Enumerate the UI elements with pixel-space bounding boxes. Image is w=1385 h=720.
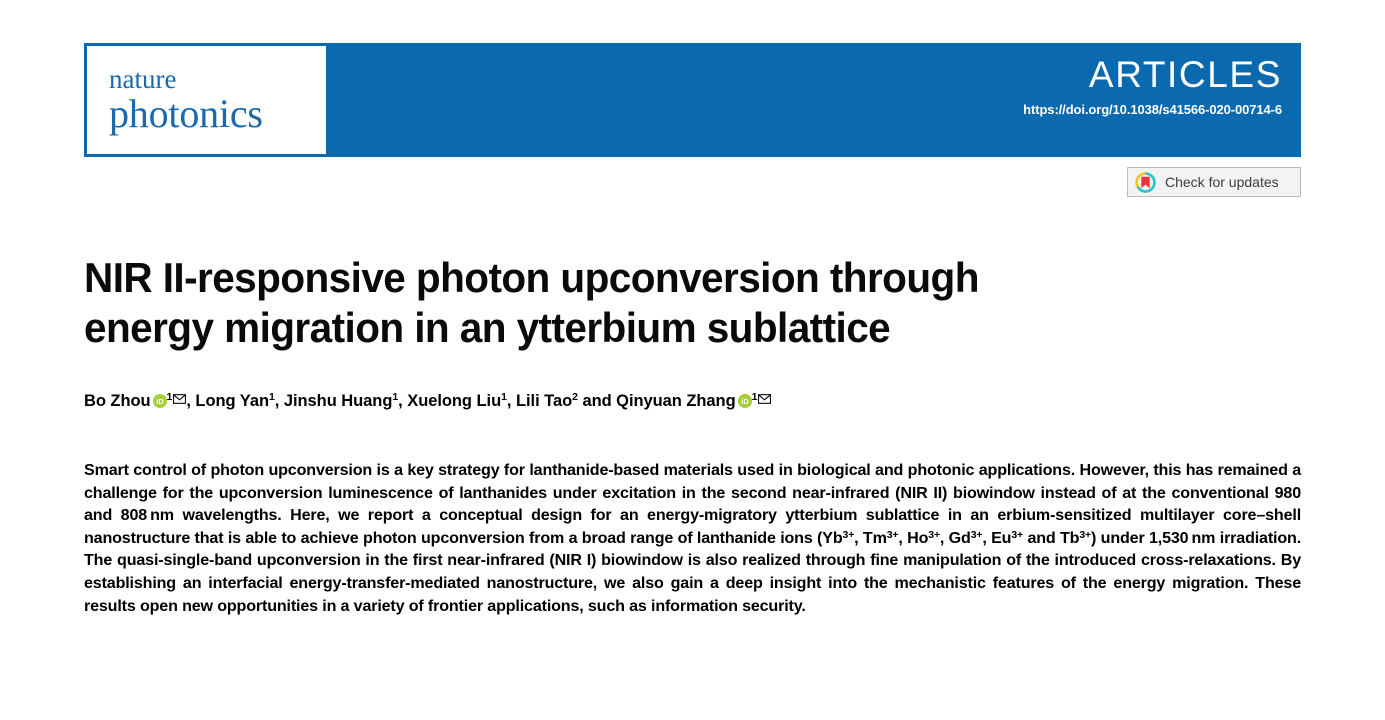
journal-logo-nature: nature xyxy=(109,66,176,93)
crossmark-icon xyxy=(1135,172,1156,193)
svg-text:iD: iD xyxy=(741,397,749,406)
journal-logo[interactable]: nature photonics xyxy=(84,43,329,157)
orcid-icon[interactable]: iD xyxy=(738,392,752,406)
check-for-updates-label: Check for updates xyxy=(1165,174,1279,190)
abstract-superscript: 3+ xyxy=(843,529,855,541)
section-label: ARTICLES xyxy=(1023,56,1282,95)
author-separator: , xyxy=(275,392,284,410)
author-name[interactable]: Lili Tao xyxy=(516,392,572,410)
abstract-superscript: 3+ xyxy=(1079,529,1091,541)
author-affiliation-marker[interactable]: 1 xyxy=(752,391,758,403)
check-for-updates-badge[interactable]: Check for updates xyxy=(1127,167,1301,197)
orcid-icon[interactable]: iD xyxy=(153,392,167,406)
author-separator: and xyxy=(578,392,616,410)
article-title-line-2: energy migration in an ytterbium sublatt… xyxy=(84,304,890,351)
abstract-superscript: 3+ xyxy=(971,529,983,541)
banner-right-block: ARTICLES https://doi.org/10.1038/s41566-… xyxy=(1023,56,1282,117)
corresponding-author-envelope-icon[interactable] xyxy=(758,388,771,398)
author-list: Bo ZhouiD1, Long Yan1, Jinshu Huang1, Xu… xyxy=(84,386,1294,412)
author-separator: , xyxy=(398,392,407,410)
abstract-text: Smart control of photon upconversion is … xyxy=(84,459,1301,617)
author-name[interactable]: Bo Zhou xyxy=(84,392,151,410)
doi-link[interactable]: https://doi.org/10.1038/s41566-020-00714… xyxy=(1023,102,1282,117)
journal-header-banner: nature photonics ARTICLES https://doi.or… xyxy=(84,43,1301,157)
author-separator: , xyxy=(507,392,516,410)
author-name[interactable]: Jinshu Huang xyxy=(284,392,393,410)
corresponding-author-envelope-icon[interactable] xyxy=(173,388,186,398)
article-title-line-1: NIR II-responsive photon upconversion th… xyxy=(84,254,979,301)
author-name[interactable]: Qinyuan Zhang xyxy=(616,392,735,410)
author-name[interactable]: Xuelong Liu xyxy=(407,392,501,410)
author-affiliation-marker[interactable]: 1 xyxy=(167,391,173,403)
svg-text:iD: iD xyxy=(156,397,164,406)
author-name[interactable]: Long Yan xyxy=(195,392,269,410)
abstract-superscript: 3+ xyxy=(887,529,899,541)
abstract-superscript: 3+ xyxy=(1011,529,1023,541)
journal-logo-photonics: photonics xyxy=(109,94,263,134)
article-title: NIR II-responsive photon upconversion th… xyxy=(84,253,1010,353)
abstract-superscript: 3+ xyxy=(928,529,940,541)
